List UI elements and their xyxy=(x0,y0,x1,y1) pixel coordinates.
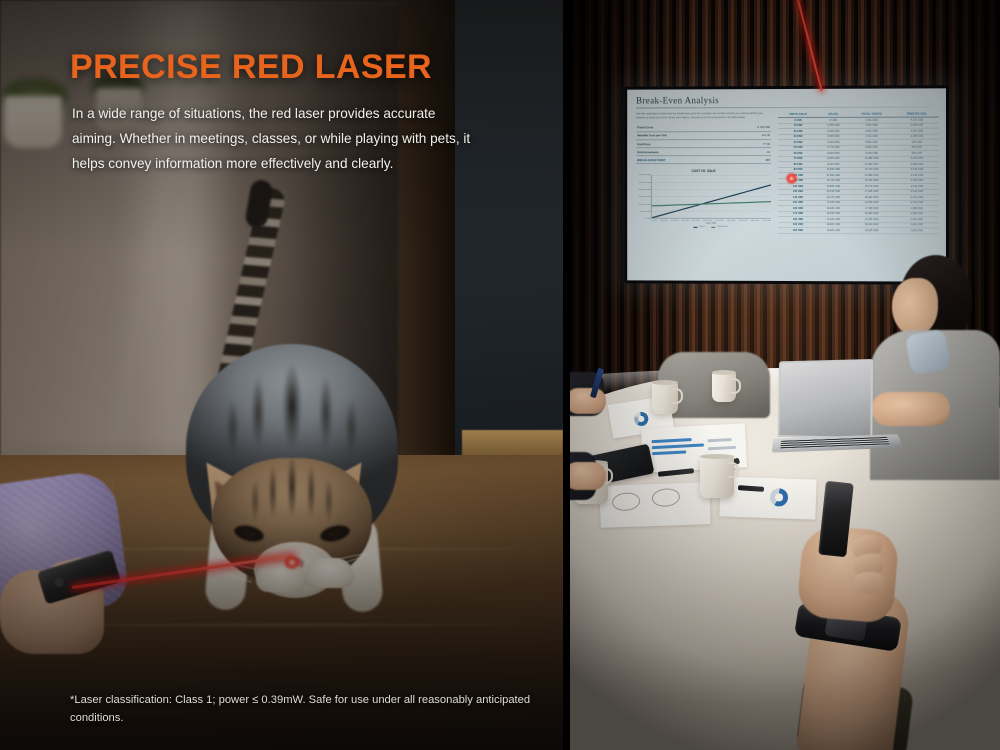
eyeglass-lens xyxy=(651,487,681,508)
chart-series-line xyxy=(652,202,771,206)
input-value: 77.00 xyxy=(728,139,771,147)
slide-description: Use this calculator to determine the bre… xyxy=(636,112,771,121)
inputs-table: Fixed Costs$ 192,900Variable Cost per Un… xyxy=(636,124,771,165)
legend-label: Total Costs xyxy=(717,226,728,228)
x-tick-label: 20 USD xyxy=(660,220,667,222)
chart-x-axis-label: Units Sold xyxy=(651,223,771,225)
page-title: PRECISE RED LASER xyxy=(70,48,432,87)
slide-left-column: Use this calculator to determine the bre… xyxy=(636,112,771,234)
x-tick-label: 120 USD xyxy=(715,220,723,222)
y-tick-label: 0 USD xyxy=(644,218,651,220)
input-label: BREAK-EVEN POINT xyxy=(636,156,728,164)
y-tick-label: 15,000 USD xyxy=(639,196,651,198)
cost-vs-sale-chart: 30,000 USD25,000 USD20,000 USD15,000 USD… xyxy=(636,175,771,227)
legend-swatch xyxy=(694,226,698,227)
input-label: Unit Increments xyxy=(636,148,728,156)
x-tick-label: 0 USD xyxy=(651,220,657,222)
tabby-cat xyxy=(178,196,408,596)
chart-series-line xyxy=(652,185,771,218)
slide-surface: Break-Even Analysis Use this calculator … xyxy=(627,88,946,281)
right-scene-conference-room: Break-Even Analysis Use this calculator … xyxy=(570,0,1000,750)
attendee-hand xyxy=(570,462,606,490)
slide-title-rule xyxy=(636,107,930,109)
presenter-hand xyxy=(760,470,960,750)
chart-plot-area: 30,000 USD25,000 USD20,000 USD15,000 USD… xyxy=(651,175,771,219)
cat-paw xyxy=(304,558,354,588)
legend-item: Total Costs xyxy=(712,226,728,228)
y-tick-label: 10,000 USD xyxy=(639,203,651,205)
presentation-screen: Break-Even Analysis Use this calculator … xyxy=(624,85,949,284)
attendee-face xyxy=(892,278,938,336)
attendee-collar xyxy=(905,329,951,375)
mug-rim xyxy=(652,380,678,385)
coffee-mug xyxy=(712,372,736,402)
y-tick-label: 20,000 USD xyxy=(639,189,651,191)
chart-title: COST VS. SALE xyxy=(636,169,771,173)
table-cell: 200 USD xyxy=(778,228,818,234)
attendee-hand xyxy=(570,388,606,414)
laser-dot xyxy=(284,556,300,569)
x-tick-label: 60 USD xyxy=(682,220,689,222)
table-cell: 19,535 USD xyxy=(849,228,895,234)
coffee-mug xyxy=(700,456,734,498)
plant-pot xyxy=(4,96,62,148)
y-tick-label: 25,000 USD xyxy=(639,182,651,184)
x-tick-label: 100 USD xyxy=(703,220,711,222)
x-tick-label: 80 USD xyxy=(692,220,699,222)
input-row: BREAK-EVEN POINT137 xyxy=(636,156,771,164)
mug-rim xyxy=(700,454,734,459)
input-value: $ 192,900 xyxy=(728,124,771,132)
laptop-keyboard[interactable] xyxy=(780,437,889,449)
x-tick-label: 40 USD xyxy=(671,220,678,222)
y-tick-label: 30,000 USD xyxy=(639,174,651,176)
presenter-button[interactable] xyxy=(54,577,65,588)
bar-graphic xyxy=(708,438,732,442)
x-tick-label: 160 USD xyxy=(739,220,747,222)
y-tick-label: 5,000 USD xyxy=(640,211,651,213)
chart-legend: SalesTotal Costs xyxy=(651,226,771,228)
cat-paw xyxy=(256,562,306,592)
x-tick-label: 200 USD xyxy=(763,220,771,222)
input-value: 121.00 xyxy=(728,131,771,139)
bar-graphic xyxy=(708,446,736,450)
mug-rim xyxy=(712,370,736,375)
table-cell: 1,220 USD xyxy=(895,228,939,234)
attendee-hands xyxy=(872,392,950,426)
input-row: Unit Price77.00 xyxy=(636,139,771,147)
panel-divider xyxy=(563,0,570,750)
input-row: Variable Cost per Unit121.00 xyxy=(636,131,771,139)
table-row: 200 USD19,481 USD19,535 USD1,220 USD xyxy=(778,228,939,234)
closed-fist xyxy=(796,524,900,624)
bar-graphic xyxy=(652,443,704,448)
laptop-screen xyxy=(778,359,873,439)
legend-label: Sales xyxy=(699,226,704,228)
laser-safety-footnote: *Laser classification: Class 1; power ≤ … xyxy=(70,691,540,727)
doorway-interior xyxy=(455,0,563,500)
input-label: Variable Cost per Unit xyxy=(636,131,728,139)
input-label: Unit Price xyxy=(636,140,728,148)
input-value: 10 xyxy=(728,148,771,156)
bar-graphic xyxy=(652,450,686,454)
slide-title: Break-Even Analysis xyxy=(636,94,939,105)
product-feature-banner: Break-Even Analysis Use this calculator … xyxy=(0,0,1000,750)
legend-item: Sales xyxy=(694,226,705,228)
bar-graphic xyxy=(652,438,692,443)
laser-dot-on-screen xyxy=(786,173,797,184)
eyeglass-lens xyxy=(611,491,641,512)
donut-chart-graphic xyxy=(633,411,649,427)
input-label: Fixed Costs xyxy=(636,124,728,132)
x-tick-label: 180 USD xyxy=(751,220,759,222)
feature-description: In a wide range of situations, the red l… xyxy=(72,101,472,176)
breakeven-data-table: UNITS SOLDSALESTOTAL COSTSPROFIT/LOSS 0 … xyxy=(778,112,939,234)
chart-series-svg xyxy=(652,175,771,218)
input-row: Unit Increments10 xyxy=(636,148,771,156)
coffee-mug xyxy=(652,382,678,414)
table-cell: 19,481 USD xyxy=(818,228,849,234)
x-tick-label: 140 USD xyxy=(727,220,735,222)
legend-swatch xyxy=(712,227,716,228)
input-value: 137 xyxy=(728,156,771,164)
